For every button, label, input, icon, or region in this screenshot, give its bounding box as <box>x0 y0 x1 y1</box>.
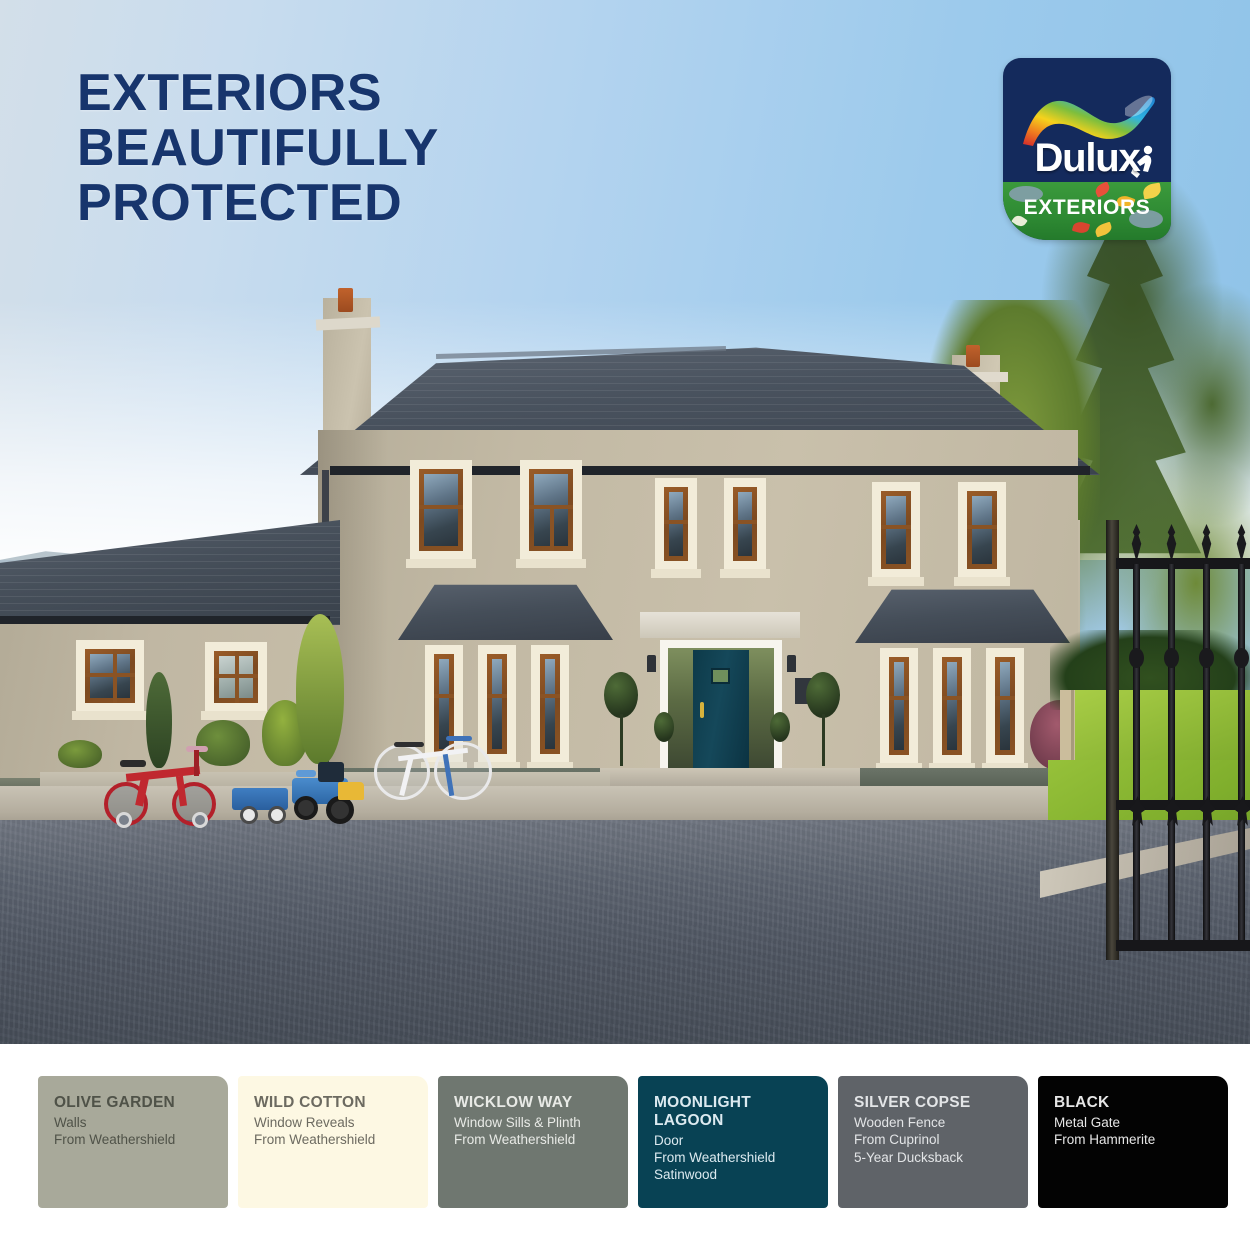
exteriors-label: EXTERIORS <box>1003 196 1171 220</box>
gate-finial-1 <box>1128 524 1145 562</box>
swatch-name: OLIVE GARDEN <box>54 1094 214 1112</box>
swatch-wicklow-way[interactable]: WICKLOW WAY Window Sills & Plinth From W… <box>438 1076 628 1208</box>
window-upper-1 <box>410 460 472 560</box>
advert-page: EXTERIORS BEAUTIFULLY PROTECTED <box>0 0 1250 1250</box>
window-upper-5 <box>872 482 920 578</box>
shrub-conifer-left <box>146 672 172 768</box>
swatch-detail-line: From Weathershield <box>54 1131 214 1148</box>
headline-line-2: BEAUTIFULLY <box>77 121 637 176</box>
gate-finial-3 <box>1198 524 1215 562</box>
topiary-stem-left <box>620 714 623 766</box>
gate-knob-1 <box>1129 648 1144 668</box>
gate-bar-1 <box>1133 564 1140 946</box>
gate-knob-2 <box>1164 648 1179 668</box>
swatch-detail-line: From Weathershield <box>454 1131 614 1148</box>
swatch-detail-line: From Hammerite <box>1054 1131 1214 1148</box>
porch-canopy <box>640 612 800 638</box>
swatch-detail-line: Metal Gate <box>1054 1114 1214 1131</box>
swatch-detail-line: Walls <box>54 1114 214 1131</box>
swatch-moonlight-lagoon[interactable]: MOONLIGHT LAGOON Door From Weathershield… <box>638 1076 828 1208</box>
window-bay-left-2 <box>478 645 516 763</box>
window-upper-4 <box>724 478 766 570</box>
gate-knob-3 <box>1199 648 1214 668</box>
metal-gate <box>1106 500 1250 960</box>
dulux-logo[interactable]: Dulux EXTERIORS <box>1003 58 1171 240</box>
swatch-black[interactable]: BLACK Metal Gate From Hammerite <box>1038 1076 1228 1208</box>
exteriors-band: EXTERIORS <box>1003 182 1171 240</box>
headline: EXTERIORS BEAUTIFULLY PROTECTED <box>77 66 637 231</box>
swatch-detail-line: Satinwood <box>654 1166 814 1183</box>
gate-bar-2 <box>1168 564 1175 946</box>
swatch-wild-cotton[interactable]: WILD COTTON Window Reveals From Weathers… <box>238 1076 428 1208</box>
swatch-detail-line: From Cuprinol <box>854 1131 1014 1148</box>
door-handle <box>700 702 704 718</box>
colour-swatch-strip: OLIVE GARDEN Walls From Weathershield WI… <box>0 1044 1250 1250</box>
swatch-olive-garden[interactable]: OLIVE GARDEN Walls From Weathershield <box>38 1076 228 1208</box>
headline-line-1: EXTERIORS <box>77 66 637 121</box>
gate-bar-3 <box>1203 564 1210 946</box>
swatch-name: BLACK <box>1054 1094 1214 1112</box>
topiary-small-right <box>770 712 790 742</box>
driveway-texture <box>0 820 1250 1044</box>
gate-post <box>1106 520 1119 960</box>
hero-photograph: EXTERIORS BEAUTIFULLY PROTECTED <box>0 0 1250 1044</box>
window-left-wing-1 <box>76 640 144 712</box>
gate-rail-bottom <box>1116 940 1250 951</box>
chimney-pot-left <box>338 288 353 312</box>
swatch-detail-line: From Weathershield <box>254 1131 414 1148</box>
topiary-small-left <box>654 712 674 742</box>
gate-finial-4 <box>1233 524 1250 562</box>
coach-lamp-right <box>787 655 796 672</box>
swatch-name: WICKLOW WAY <box>454 1094 614 1112</box>
topiary-right <box>806 672 840 718</box>
gate-knob-4 <box>1234 648 1249 668</box>
swatch-detail-line: Wooden Fence <box>854 1114 1014 1131</box>
door-glass-panel <box>711 668 730 684</box>
window-upper-3 <box>655 478 697 570</box>
window-bay-left-3 <box>531 645 569 763</box>
leaf-shape-4 <box>1094 222 1114 238</box>
dulux-wordmark: Dulux <box>1003 136 1171 181</box>
swatch-detail-line: 5-Year Ducksback <box>854 1149 1014 1166</box>
window-left-wing-2 <box>205 642 267 712</box>
topiary-left <box>604 672 638 718</box>
swatch-detail-line: Door <box>654 1132 814 1149</box>
gate-finial-2 <box>1163 524 1180 562</box>
swatch-name: MOONLIGHT LAGOON <box>654 1094 814 1130</box>
swatch-detail-line: From Weathershield <box>654 1149 814 1166</box>
topiary-stem-right <box>822 714 825 766</box>
leaf-shape-3 <box>1072 220 1090 235</box>
swatch-name: WILD COTTON <box>254 1094 414 1112</box>
swatch-detail-line: Window Sills & Plinth <box>454 1114 614 1131</box>
headline-line-3: PROTECTED <box>77 176 637 231</box>
shrub-far-left <box>58 740 102 768</box>
window-bay-right-1 <box>880 648 918 764</box>
window-bay-right-3 <box>986 648 1024 764</box>
window-bay-right-2 <box>933 648 971 764</box>
swatch-name: SILVER COPSE <box>854 1094 1014 1112</box>
coach-lamp-left <box>647 655 656 672</box>
climber-plant <box>296 614 344 764</box>
shrub-left <box>196 720 250 766</box>
window-upper-6 <box>958 482 1006 578</box>
chimney-pot-right <box>966 345 980 367</box>
swatch-silver-copse[interactable]: SILVER COPSE Wooden Fence From Cuprinol … <box>838 1076 1028 1208</box>
window-upper-2 <box>520 460 582 560</box>
gate-bar-4 <box>1238 564 1245 946</box>
swatch-detail-line: Window Reveals <box>254 1114 414 1131</box>
fascia-left <box>0 616 330 624</box>
